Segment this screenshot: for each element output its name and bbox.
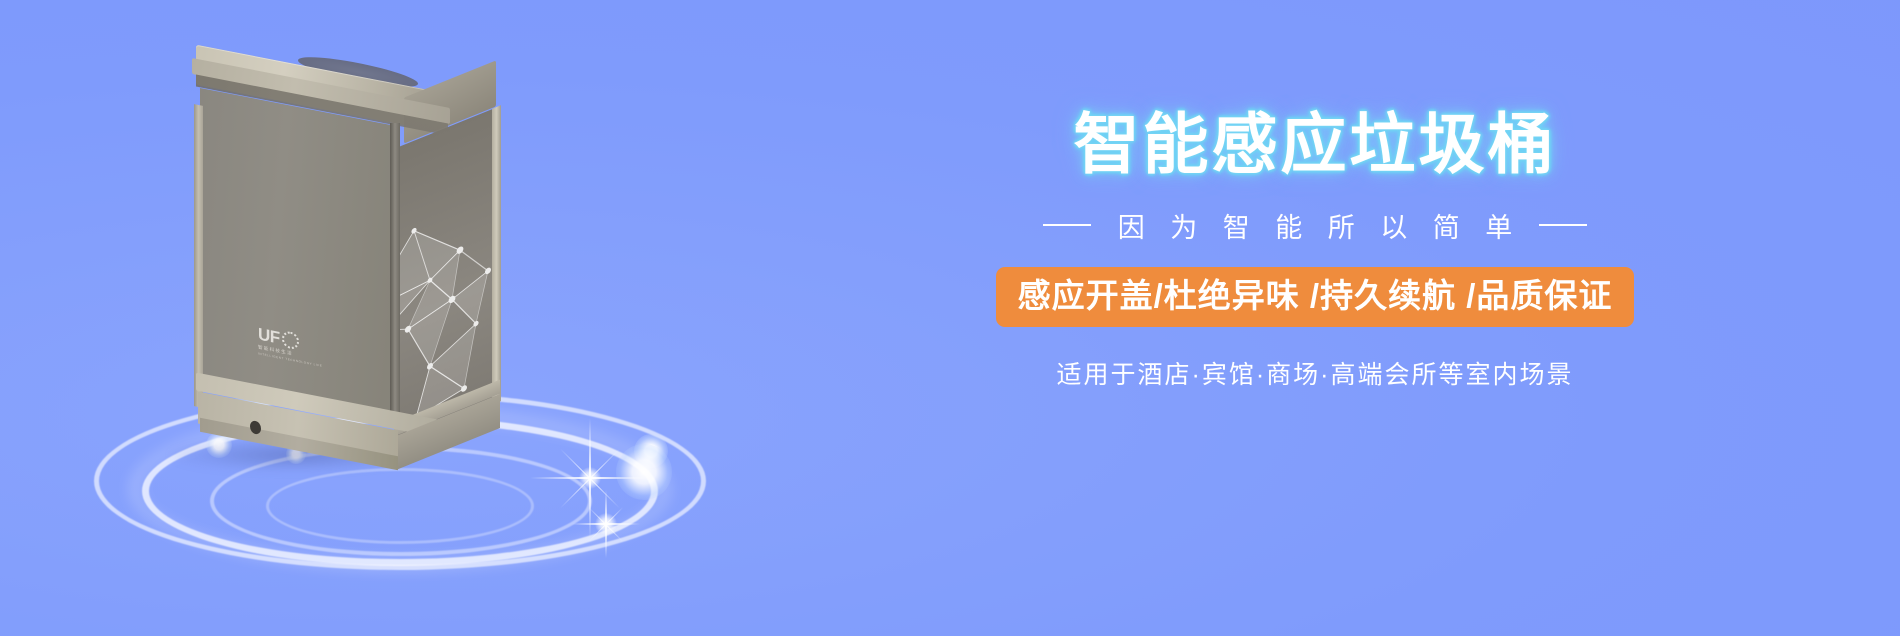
ripple-ring-innermost <box>266 468 534 544</box>
bin-center-corner-trim <box>390 123 400 419</box>
subline-rule-left <box>1043 224 1091 226</box>
logo-ring-icon <box>282 330 299 350</box>
subline-text: 因 为 智 能 所 以 简 单 <box>1109 206 1522 245</box>
subline-rule-right <box>1539 224 1587 226</box>
smart-trash-bin-illustration: UF 智能科技生活 INTELLIGENT TECHNOLOGY LIFE <box>180 45 510 465</box>
promo-subline: 因 为 智 能 所 以 简 单 <box>880 206 1750 245</box>
product-promo-banner: UF 智能科技生活 INTELLIGENT TECHNOLOGY LIFE <box>0 0 1900 636</box>
feature-badge-wrapper: 感应开盖/杜绝异味 /持久续航 /品质保证 <box>880 245 1750 327</box>
bin-left-corner-trim <box>194 104 203 408</box>
product-image-stage: UF 智能科技生活 INTELLIGENT TECHNOLOGY LIFE <box>60 20 760 580</box>
feature-badge: 感应开盖/杜绝异味 /持久续航 /品质保证 <box>996 267 1635 327</box>
sparkle-star-small <box>572 490 640 558</box>
promo-headline: 智能感应垃圾桶 <box>880 108 1750 182</box>
bin-right-corner-trim <box>492 105 501 405</box>
promo-copy-block: 智能感应垃圾桶 因 为 智 能 所 以 简 单 感应开盖/杜绝异味 /持久续航 … <box>880 108 1750 391</box>
usage-scenes-text: 适用于酒店·宾馆·商场·高端会所等室内场景 <box>880 355 1750 391</box>
logo-wordmark: UF <box>258 325 280 346</box>
